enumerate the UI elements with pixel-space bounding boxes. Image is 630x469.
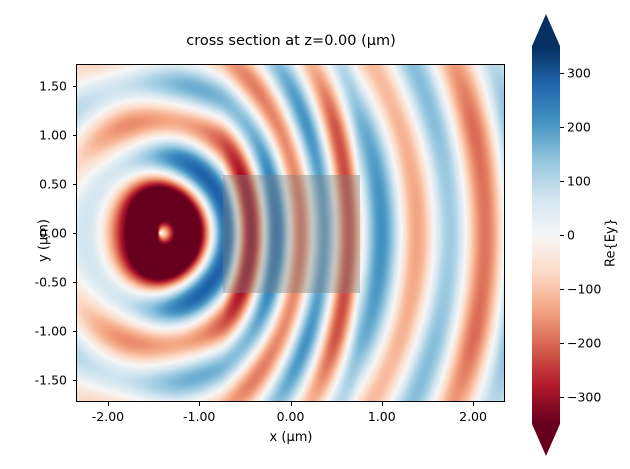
plot-title: cross section at z=0.00 (µm) [76, 33, 506, 49]
colorbar-tick-label: −300 [567, 390, 601, 405]
figure-canvas: cross section at z=0.00 (µm) x (µm) y (µ… [0, 0, 630, 469]
x-tick-label: 0.00 [277, 409, 305, 424]
colorbar-tick-mark [560, 181, 564, 182]
y-tick-label: 0.00 [0, 226, 67, 241]
x-tick-label: -1.00 [183, 409, 215, 424]
y-tick-mark [73, 331, 77, 332]
colorbar-label: Re{Ey} [604, 183, 619, 303]
colorbar-tick-label: 200 [567, 120, 591, 135]
colorbar-tick-label: 100 [567, 174, 591, 189]
colorbar-extend-bottom-icon [532, 424, 560, 456]
y-tick-mark [73, 233, 77, 234]
colorbar-gradient [532, 46, 560, 424]
y-tick-label: 1.50 [0, 79, 67, 94]
y-tick-label: 1.00 [0, 128, 67, 143]
x-tick-mark [473, 402, 474, 406]
field-heatmap [77, 65, 504, 401]
x-tick-mark [199, 402, 200, 406]
x-tick-mark [291, 402, 292, 406]
y-tick-label: -1.50 [0, 372, 67, 387]
colorbar-tick-mark [560, 235, 564, 236]
y-tick-label: -1.00 [0, 323, 67, 338]
colorbar-tick-label: −100 [567, 282, 601, 297]
colorbar-extend-top-icon [532, 14, 560, 46]
y-tick-mark [73, 380, 77, 381]
colorbar-tick-mark [560, 289, 564, 290]
colorbar-tick-label: 300 [567, 66, 591, 81]
colorbar [532, 14, 560, 456]
x-tick-mark [108, 402, 109, 406]
y-tick-label: -0.50 [0, 274, 67, 289]
x-tick-label: 1.00 [368, 409, 396, 424]
main-axes [76, 64, 505, 402]
colorbar-tick-mark [560, 73, 564, 74]
y-tick-mark [73, 184, 77, 185]
colorbar-tick-mark [560, 127, 564, 128]
colorbar-tick-label: −200 [567, 336, 601, 351]
y-tick-mark [73, 86, 77, 87]
y-tick-label: 0.50 [0, 177, 67, 192]
x-tick-mark [382, 402, 383, 406]
y-tick-mark [73, 282, 77, 283]
x-axis-label: x (µm) [76, 430, 506, 445]
colorbar-tick-label: 0 [567, 228, 575, 243]
x-tick-label: 2.00 [459, 409, 487, 424]
colorbar-tick-mark [560, 343, 564, 344]
y-tick-mark [73, 135, 77, 136]
x-tick-label: -2.00 [92, 409, 124, 424]
colorbar-tick-mark [560, 397, 564, 398]
